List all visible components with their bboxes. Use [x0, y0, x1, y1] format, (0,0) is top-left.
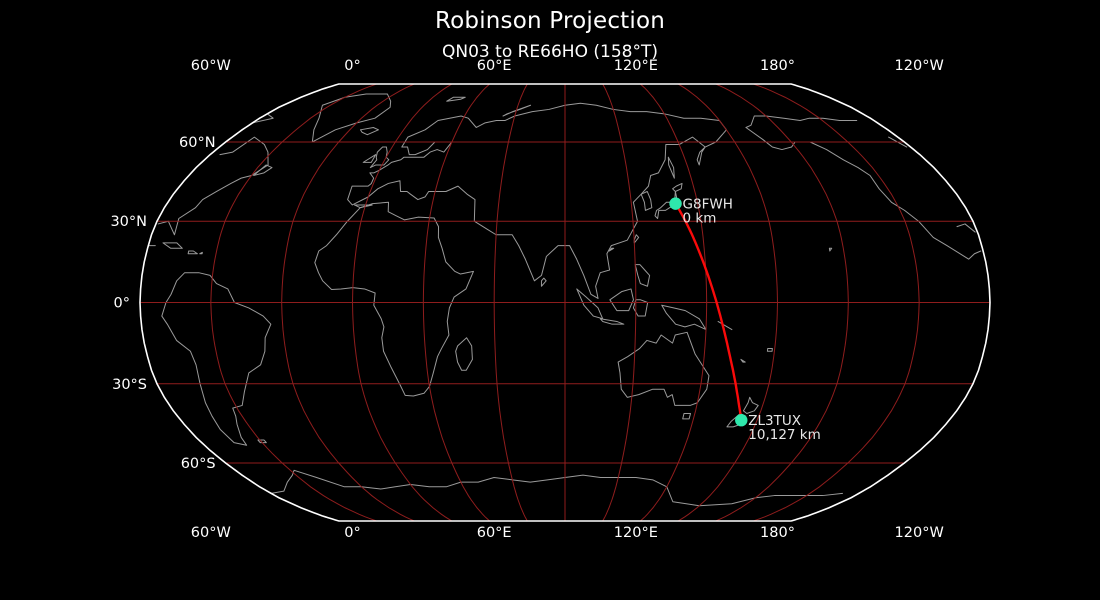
- lon-tick-label: 120°W: [895, 58, 944, 74]
- lon-tick-label: 120°E: [614, 525, 658, 541]
- lon-tick-label: 0°: [344, 58, 360, 74]
- graticule-layer: [140, 84, 990, 521]
- map-visualization: Robinson Projection QN03 to RE66HO (158°…: [0, 0, 1100, 600]
- lon-tick-label: 60°W: [191, 58, 231, 74]
- axis-tick-labels: 0°0°60°E60°E120°E120°E180°180°120°W120°W…: [110, 58, 943, 541]
- lat-tick-label: 0°: [114, 296, 130, 312]
- lat-tick-label: 60°N: [179, 135, 216, 151]
- lon-tick-label: 0°: [344, 525, 360, 541]
- robinson-map[interactable]: G8FWH0 kmZL3TUX10,127 km 0°0°60°E60°E120…: [0, 0, 1100, 600]
- lon-tick-label: 180°: [760, 525, 795, 541]
- station-marker[interactable]: [735, 414, 747, 426]
- lon-tick-label: 120°E: [614, 58, 658, 74]
- lat-tick-label: 30°S: [112, 377, 147, 393]
- lon-tick-label: 120°W: [895, 525, 944, 541]
- great-circle-path: [676, 204, 742, 421]
- station-distance: 0 km: [683, 211, 717, 227]
- lon-tick-label: 180°: [760, 58, 795, 74]
- lat-tick-label: 60°S: [181, 456, 216, 472]
- lon-tick-label: 60°W: [191, 525, 231, 541]
- station-distance: 10,127 km: [748, 427, 821, 443]
- lon-tick-label: 60°E: [477, 525, 512, 541]
- lon-tick-label: 60°E: [477, 58, 512, 74]
- station-marker[interactable]: [669, 197, 681, 209]
- lat-tick-label: 30°N: [110, 214, 147, 230]
